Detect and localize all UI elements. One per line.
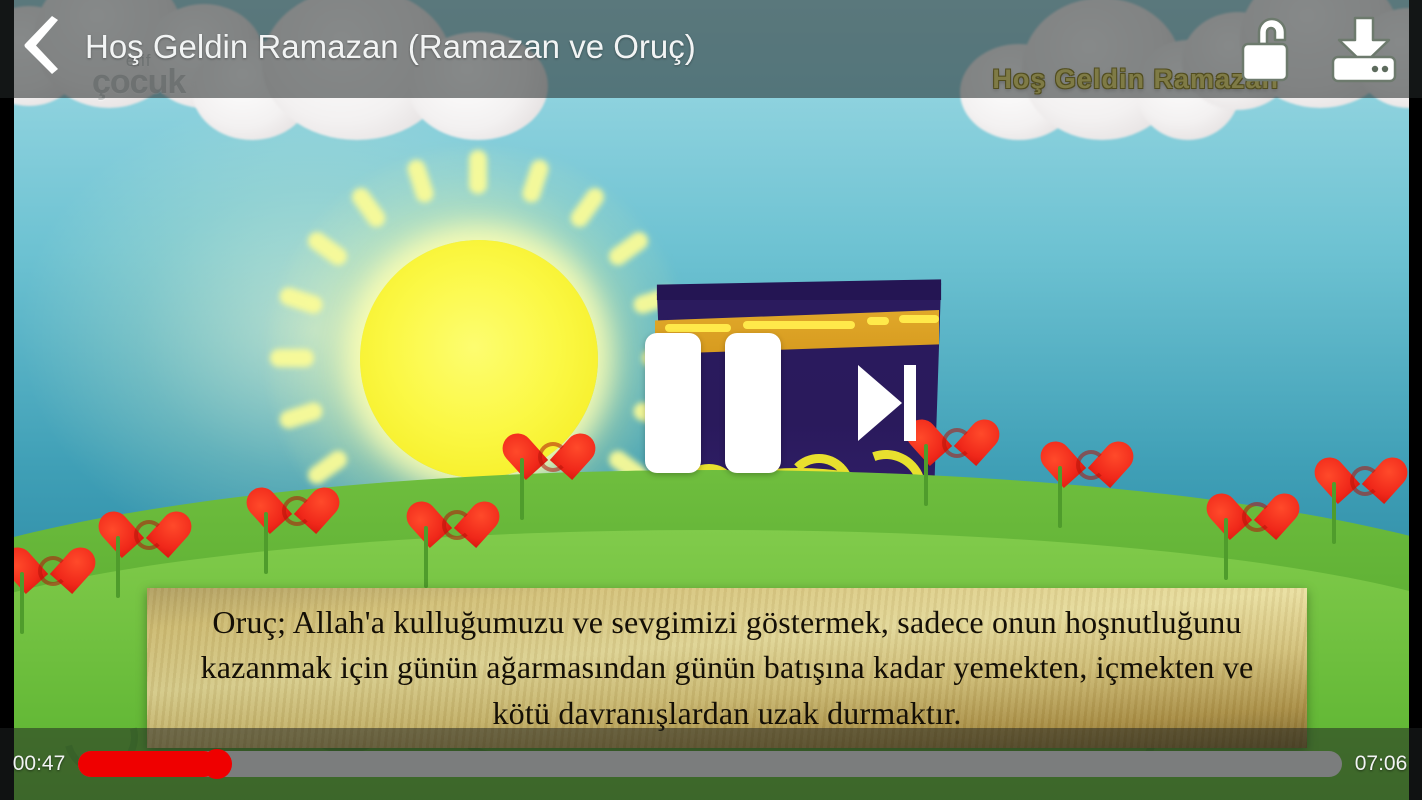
seek-progress-fill (78, 751, 217, 777)
seek-thumb[interactable] (202, 749, 232, 779)
total-time-label: 07:06 (1348, 752, 1414, 776)
caption-text: Oruç; Allah'a kulluğumuzu ve sevgimizi g… (187, 600, 1267, 736)
current-time-label: 00:47 (6, 752, 72, 776)
letterbox-left (0, 0, 14, 800)
skip-next-icon[interactable] (856, 363, 918, 443)
download-icon[interactable] (1324, 10, 1404, 90)
player-bottom-bar: 00:47 07:06 (0, 728, 1422, 800)
unlock-icon[interactable] (1230, 10, 1310, 90)
page-title: Hoş Geldin Ramazan (Ramazan ve Oruç) (85, 28, 696, 66)
seek-track[interactable] (78, 751, 1342, 777)
chevron-left-icon[interactable] (12, 14, 74, 76)
pause-icon[interactable] (645, 333, 781, 473)
letterbox-right (1409, 0, 1422, 800)
video-player-screen: Oruç; Allah'a kulluğumuzu ve sevgimizi g… (0, 0, 1422, 800)
player-top-bar: Hoş Geldin Ramazan (Ramazan ve Oruç) (0, 0, 1422, 98)
caption-panel: Oruç; Allah'a kulluğumuzu ve sevgimizi g… (147, 588, 1307, 748)
seek-slider[interactable] (78, 751, 1342, 777)
